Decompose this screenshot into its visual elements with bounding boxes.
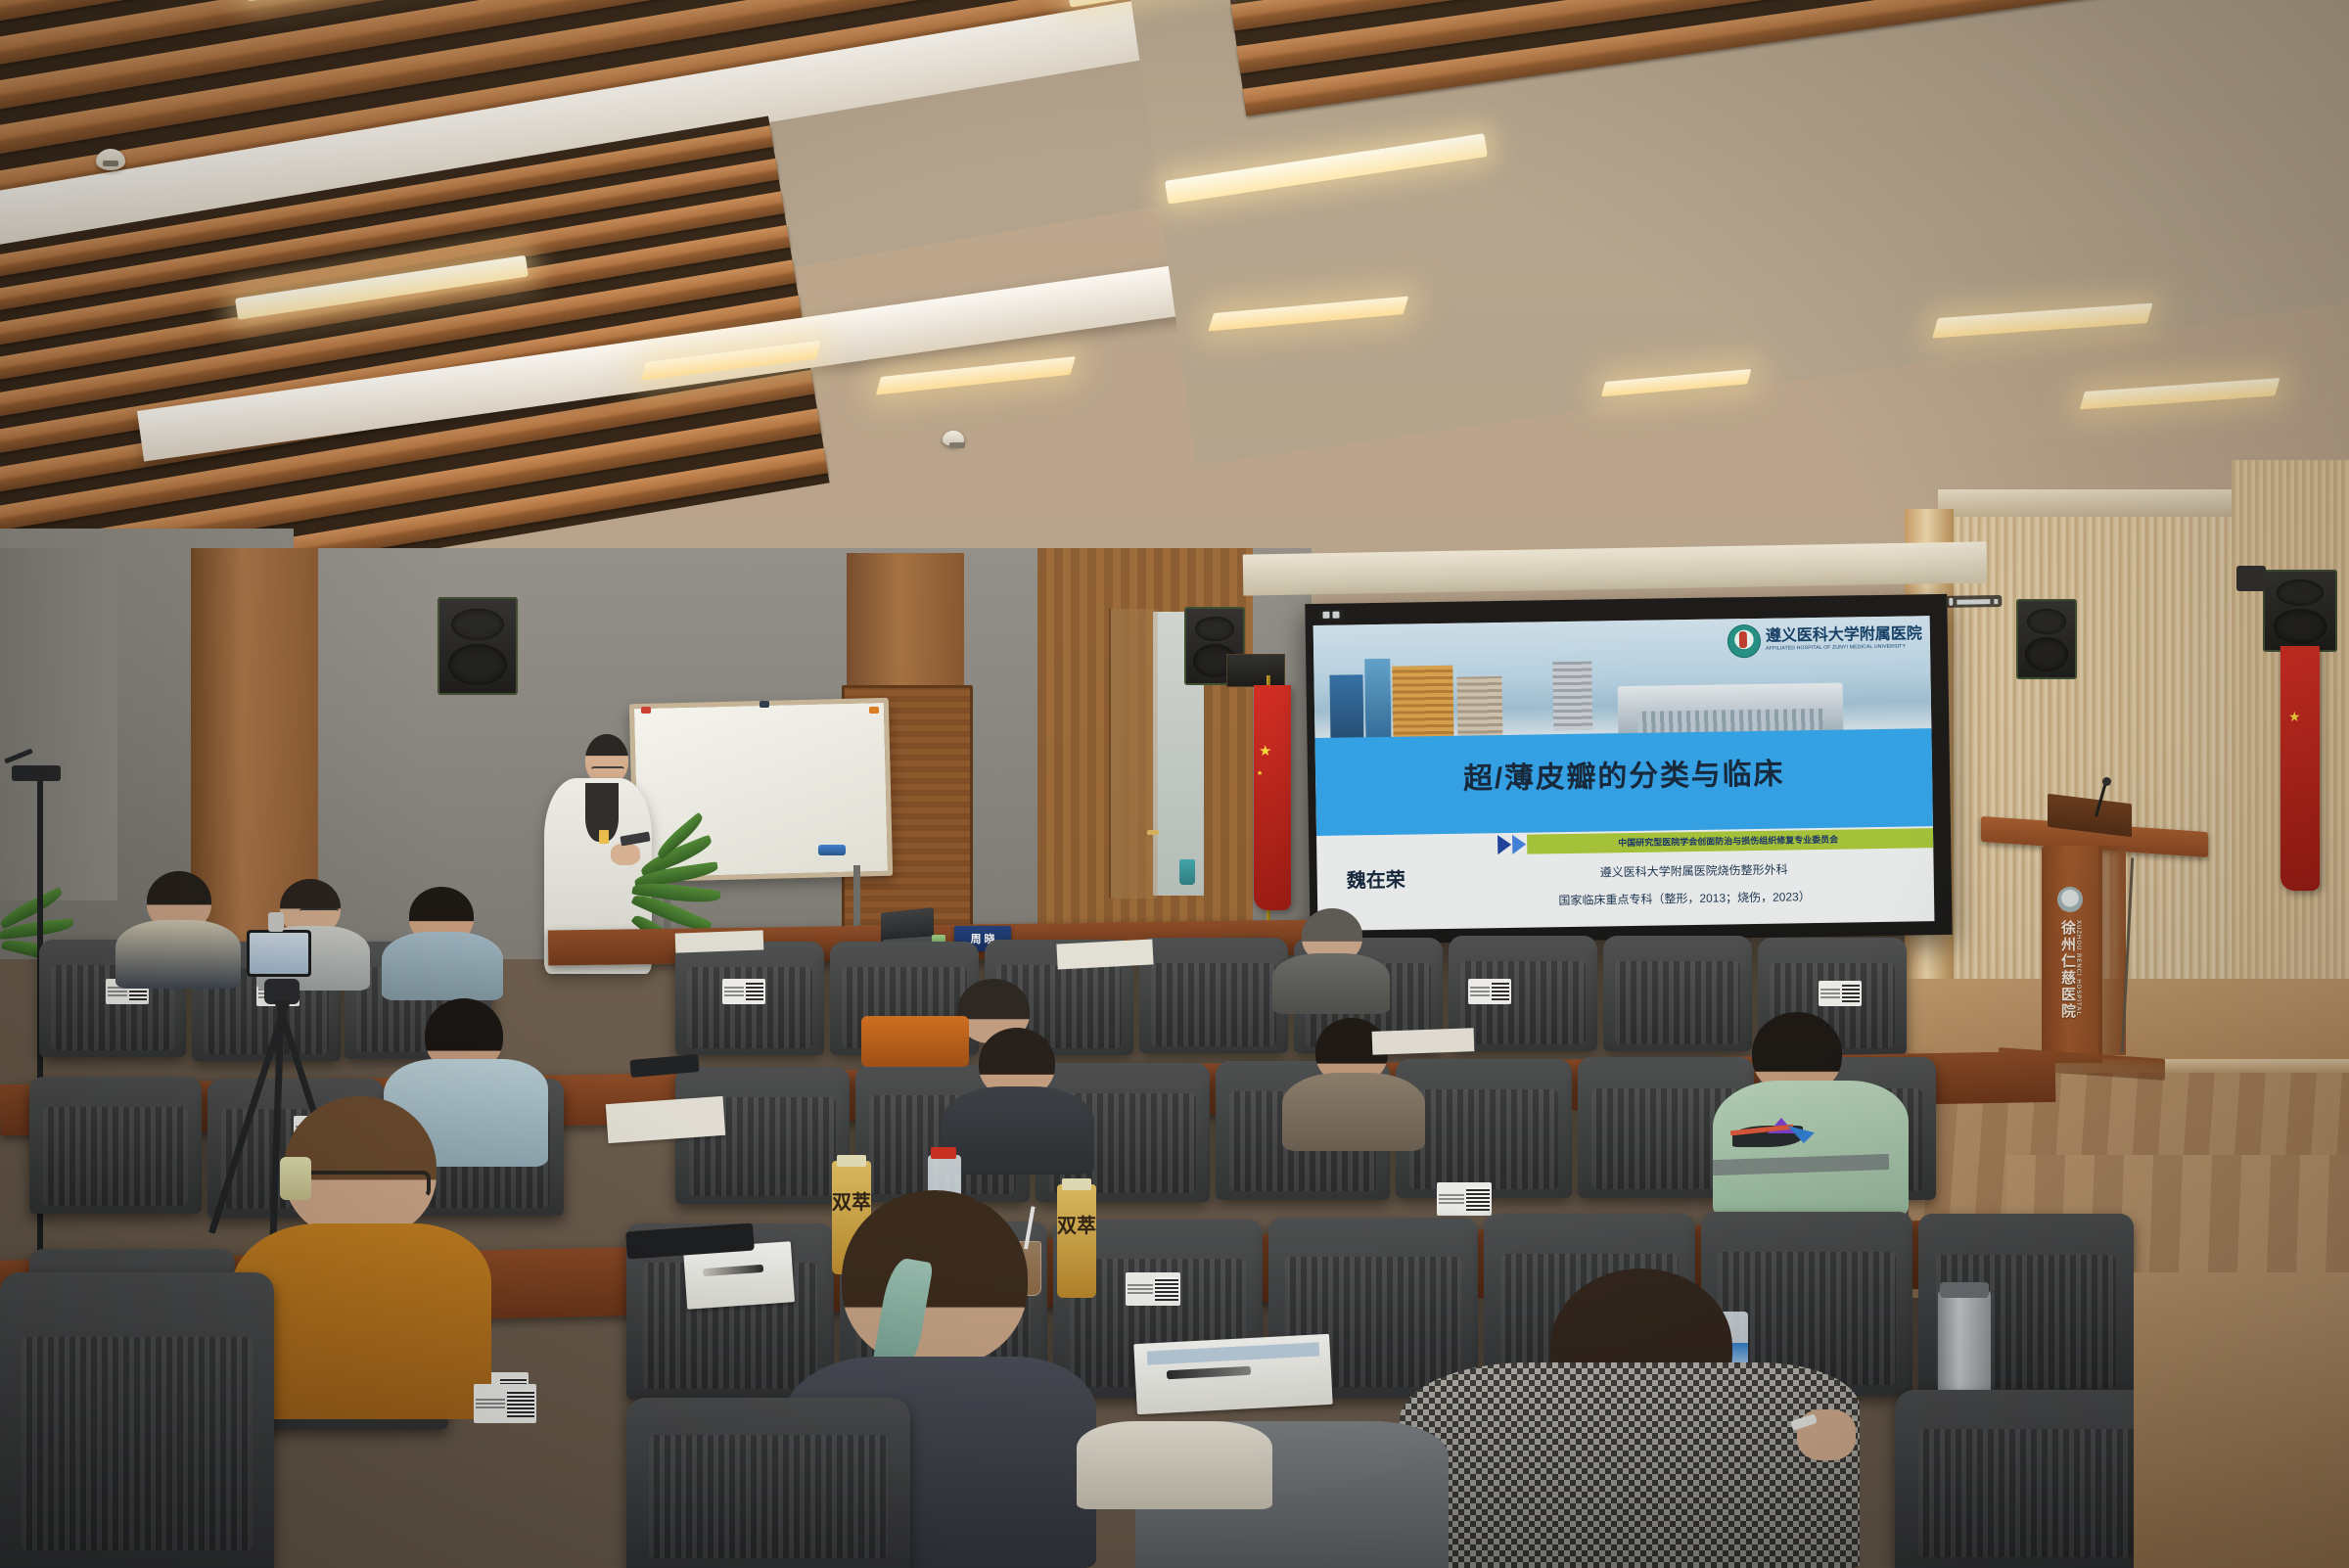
thermos-lid-icon <box>1940 1282 1989 1298</box>
trash-bin <box>1179 859 1195 885</box>
building-graphic-2 <box>1364 659 1391 739</box>
seat-foreground-center[interactable] <box>626 1398 910 1568</box>
label-lines <box>724 981 744 1002</box>
building-graphic-4 <box>1456 676 1502 738</box>
seat-b1[interactable] <box>29 1077 202 1214</box>
wall-speaker-right-2 <box>2263 570 2337 652</box>
bottle-brand-label: 双萃 <box>832 1186 871 1215</box>
bottle-cap-red-icon <box>931 1147 956 1159</box>
label-lines <box>1820 983 1840 1004</box>
slide-logo-en: AFFILIATED HOSPITAL OF ZUNYI MEDICAL UNI… <box>1766 645 1922 653</box>
speaker-mount-bracket <box>2236 566 2266 591</box>
qr-code-icon <box>1155 1277 1178 1301</box>
badge-caret-icon <box>1994 599 1998 604</box>
slide-presenter-name: 魏在荣 <box>1346 864 1405 894</box>
qr-code-icon <box>1842 985 1860 1002</box>
bottle-brand-label-2: 双萃 <box>1057 1210 1096 1238</box>
bottle-cap-icon <box>1062 1178 1091 1190</box>
label-lines <box>1439 1184 1464 1214</box>
microphone-head-icon <box>2102 777 2111 786</box>
audience-glasses-icon-foreground <box>301 1171 431 1198</box>
white-cloth <box>1077 1421 1272 1509</box>
slide-logo-cn: 遵义医科大学附属医院 <box>1766 627 1922 646</box>
qr-code-icon <box>507 1390 534 1417</box>
chinese-national-flag <box>1254 685 1291 910</box>
audience-green-jacket <box>1713 1081 1909 1218</box>
conference-room-photo: ★ ★ ★ 遵义医科大学附属医院 AFFILIATED <box>0 0 2349 1568</box>
qr-code-icon <box>746 983 763 1000</box>
audience-body <box>1272 953 1390 1014</box>
phone-screen[interactable] <box>250 933 308 974</box>
label-lines <box>1128 1274 1153 1304</box>
laptop[interactable] <box>881 910 938 945</box>
chinese-national-flag-right <box>2280 646 2320 891</box>
door-handle-icon[interactable] <box>1147 830 1159 835</box>
audience-head-foreground-center <box>842 1190 1028 1366</box>
papers-on-desk-3 <box>1372 1028 1475 1055</box>
seat-asset-label <box>1437 1182 1492 1216</box>
badge-dot-icon <box>1322 612 1329 619</box>
presenter-badge <box>599 830 609 844</box>
building-graphic-7 <box>1637 709 1823 733</box>
whiteboard-eraser[interactable] <box>818 845 846 855</box>
whiteboard-magnet-dark-icon <box>760 701 769 708</box>
audience-body <box>382 932 503 1000</box>
presentation-slide[interactable]: 遵义医科大学附属医院 AFFILIATED HOSPITAL OF ZUNYI … <box>1313 616 1935 931</box>
ceiling-panel-light-2 <box>876 356 1076 395</box>
chevron-dark-icon <box>1497 835 1511 854</box>
mic-stand-head-icon <box>12 765 61 781</box>
smoke-detector-icon <box>96 149 125 170</box>
slide-affiliation-1: 遵义医科大学附属医院烧伤整形外科 <box>1464 858 1924 882</box>
audience-body <box>1282 1073 1425 1151</box>
papers-on-desk-4 <box>675 930 764 952</box>
seat-a10[interactable] <box>1603 936 1752 1051</box>
smoke-detector-icon-2 <box>943 431 964 446</box>
flag-star-small-icon: ★ <box>1257 770 1263 777</box>
tripod-phone[interactable] <box>247 930 311 977</box>
hospital-logo-icon <box>1727 624 1762 659</box>
papers-on-desk <box>606 1096 725 1143</box>
flag-plaque <box>1226 654 1285 687</box>
seat-foreground-left[interactable] <box>0 1272 274 1568</box>
building-graphic-5 <box>1552 661 1592 730</box>
slide-mic-badge[interactable] <box>1945 595 2002 608</box>
ceiling-panel-light-5 <box>2080 378 2280 409</box>
seat-a7[interactable] <box>1139 938 1288 1053</box>
slide-affiliation-2: 国家临床重点专科（整形，2013；烧伤，2023） <box>1445 886 1924 910</box>
chevron-light-icon <box>1512 834 1526 853</box>
mic-icon <box>1949 598 1953 606</box>
wall-speaker-left <box>438 597 518 695</box>
flag-star-icon-right: ★ <box>2288 710 2301 723</box>
tweed-jacket-shade <box>1400 1362 1860 1568</box>
podium-emblem-icon <box>2057 887 2083 912</box>
door-panel[interactable] <box>1109 609 1158 899</box>
tripod-head <box>268 912 284 932</box>
left-far-wall <box>0 548 117 900</box>
seat-asset-label <box>722 979 765 1004</box>
seat-asset-label <box>474 1384 536 1423</box>
qr-code-icon <box>1492 983 1509 1000</box>
bottle-cap-icon <box>837 1155 866 1167</box>
floor-carpet <box>2134 1272 2349 1568</box>
badge-dot-icon-2 <box>1332 612 1339 619</box>
whiteboard-magnet-orange-icon <box>869 707 879 714</box>
hair-clip-icon <box>280 1157 311 1200</box>
building-graphic-1 <box>1329 674 1363 740</box>
flag-star-icon: ★ <box>1259 744 1271 759</box>
slide-rec-badge[interactable] <box>1318 610 1343 621</box>
whiteboard-magnet-red-icon <box>641 707 651 714</box>
audience-body <box>942 1086 1094 1175</box>
seat-asset-label <box>1819 981 1862 1006</box>
slide-hero-image: 遵义医科大学附属医院 AFFILIATED HOSPITAL OF ZUNYI … <box>1313 616 1932 748</box>
seat-asset-label <box>1468 979 1511 1004</box>
qr-code-icon <box>1466 1187 1490 1211</box>
tea-bottle-right <box>1057 1184 1096 1298</box>
badge-label-line <box>1957 599 1990 605</box>
label-lines <box>1470 981 1490 1002</box>
orange-cloth <box>861 1016 969 1067</box>
papers-on-desk-2 <box>1056 939 1153 969</box>
podium: 徐州仁慈医院 XUZHOU RENCI HOSPITAL <box>1977 773 2251 1096</box>
podium-hospital-name-en: XUZHOU RENCI HOSPITAL <box>2075 920 2081 1016</box>
wall-speaker-right <box>2016 599 2077 679</box>
slide-hospital-logo: 遵义医科大学附属医院 AFFILIATED HOSPITAL OF ZUNYI … <box>1727 622 1923 658</box>
label-lines <box>476 1386 505 1421</box>
presenter-glasses-icon <box>591 766 624 774</box>
projection-screen-frame: 遵义医科大学附属医院 AFFILIATED HOSPITAL OF ZUNYI … <box>1305 594 1952 945</box>
building-graphic-3 <box>1392 666 1453 739</box>
audience-body <box>115 920 241 989</box>
seat-asset-label <box>1126 1272 1180 1306</box>
